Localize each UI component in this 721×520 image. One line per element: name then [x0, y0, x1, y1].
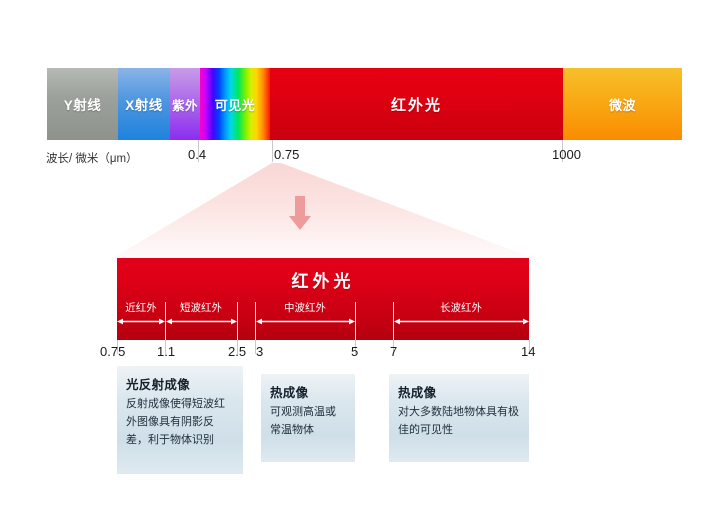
band-arrow-short-wave-infrared — [166, 317, 237, 326]
description-box-thermal-imaging-mwir[interactable]: 热成像 可观测高温或常温物体 — [261, 374, 355, 462]
spectrum-segment-xray-label: X射线 — [125, 94, 163, 114]
band-arrow-near-infrared — [117, 317, 165, 326]
ir-tick-label-5: 5 — [351, 344, 358, 359]
spectrum-segment-xray[interactable]: X射线 — [118, 68, 170, 140]
description-box-reflective-imaging[interactable]: 光反射成像 反射成像使得短波红外图像具有阴影反差，利于物体识别 — [117, 366, 243, 474]
spectrum-segment-ultraviolet-label: 紫外 — [172, 95, 198, 114]
ir-tick-label-0-75: 0.75 — [100, 344, 125, 359]
band-arrow-long-wave-infrared — [394, 317, 529, 326]
spectrum-segment-visible-label: 可见光 — [215, 95, 256, 114]
band-divider-2-5 — [237, 302, 238, 340]
band-label-short-wave-infrared: 短波红外 — [165, 300, 237, 315]
description-box-reflective-imaging-title: 光反射成像 — [126, 374, 234, 393]
description-box-thermal-imaging-mwir-title: 热成像 — [270, 382, 346, 401]
band-label-near-infrared: 近红外 — [117, 300, 165, 315]
spectrum-segment-ultraviolet[interactable]: 紫外 — [170, 68, 200, 140]
spectrum-segment-visible[interactable]: 可见光 — [200, 68, 270, 140]
axis-tick-label-0-4: 0.4 — [188, 147, 206, 162]
spectrum-segment-infrared[interactable]: 红外光 — [270, 68, 563, 140]
spectrum-segment-gamma[interactable]: Y射线 — [47, 68, 118, 140]
axis-tick-0-75 — [272, 140, 273, 162]
description-box-thermal-imaging-lwir-title: 热成像 — [398, 382, 520, 401]
infrared-detail-title: 红外光 — [117, 267, 529, 292]
spectrum-segment-microwave-label: 微波 — [609, 95, 636, 114]
band-arrow-mid-wave-infrared — [256, 317, 355, 326]
ir-tick-label-7: 7 — [390, 344, 397, 359]
description-box-thermal-imaging-lwir[interactable]: 热成像 对大多数陆地物体具有极佳的可见性 — [389, 374, 529, 462]
band-label-long-wave-infrared: 长波红外 — [393, 300, 529, 315]
electromagnetic-spectrum-diagram: Y射线 X射线 紫外 可见光 红外光 微波 波长/ 微米（μm） 0.4 0.7… — [0, 0, 721, 520]
wavelength-axis-label: 波长/ 微米（μm） — [46, 150, 138, 166]
ir-tick-label-3: 3 — [256, 344, 263, 359]
description-box-thermal-imaging-lwir-body: 对大多数陆地物体具有极佳的可见性 — [398, 404, 520, 440]
band-divider-5 — [355, 302, 356, 340]
description-box-reflective-imaging-body: 反射成像使得短波红外图像具有阴影反差，利于物体识别 — [126, 396, 234, 449]
spectrum-segment-infrared-label: 红外光 — [391, 94, 442, 115]
ir-tick-label-2-5: 2.5 — [228, 344, 246, 359]
ir-tick-label-14: 14 — [521, 344, 535, 359]
infrared-detail-bar: 红外光 — [117, 258, 529, 340]
ir-tick-label-1-1: 1.1 — [157, 344, 175, 359]
zoom-callout-funnel — [113, 163, 533, 258]
description-box-thermal-imaging-mwir-body: 可观测高温或常温物体 — [270, 404, 346, 440]
down-arrow-icon — [288, 196, 312, 232]
axis-tick-label-0-75: 0.75 — [274, 147, 299, 162]
spectrum-segment-gamma-label: Y射线 — [64, 94, 102, 114]
axis-tick-label-1000: 1000 — [552, 147, 581, 162]
band-label-mid-wave-infrared: 中波红外 — [255, 300, 355, 315]
spectrum-segment-microwave[interactable]: 微波 — [563, 68, 682, 140]
spectrum-bar: Y射线 X射线 紫外 可见光 红外光 微波 — [47, 68, 682, 140]
